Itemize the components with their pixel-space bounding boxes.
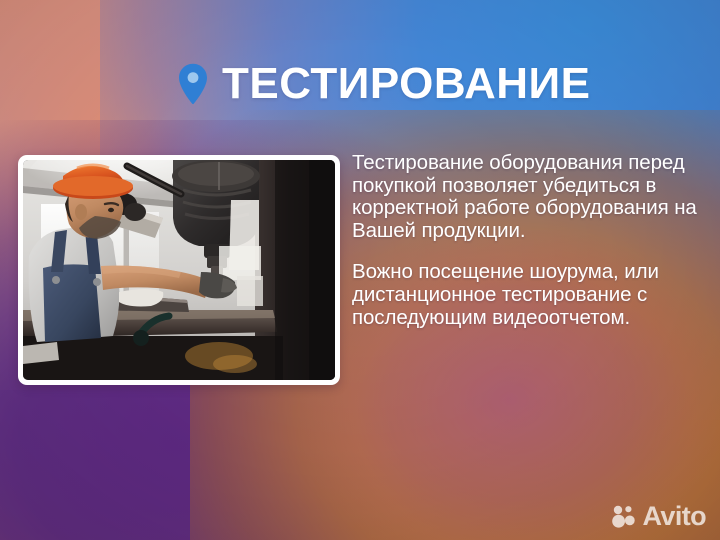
photo-card — [18, 155, 340, 385]
avito-dots-icon — [612, 505, 638, 529]
avito-watermark: Avito — [612, 503, 707, 530]
body-copy: Тестирование оборудования перед покупкой… — [352, 152, 718, 329]
photo-worker-at-machine — [23, 160, 335, 380]
header: ТЕСТИРОВАНИЕ — [178, 62, 591, 106]
slide-root: ТЕСТИРОВАНИЕ — [0, 0, 720, 540]
page-title: ТЕСТИРОВАНИЕ — [222, 62, 591, 106]
paragraph-2: Вожно посещение шоурума, или дистанционн… — [352, 261, 718, 329]
paragraph-1: Тестирование оборудования перед покупкой… — [352, 152, 718, 242]
location-pin-icon — [178, 63, 208, 105]
avito-wordmark: Avito — [643, 503, 707, 530]
